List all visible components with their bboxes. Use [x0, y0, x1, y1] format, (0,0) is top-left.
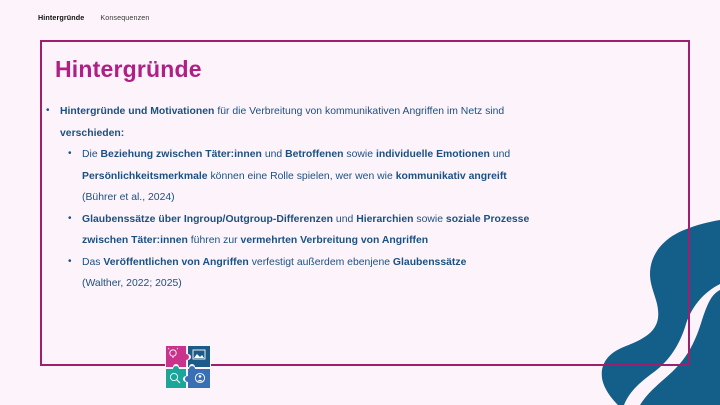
text-run: und [333, 214, 356, 225]
bullet-line: •Die Beziehung zwischen Täter:innen und … [46, 144, 671, 166]
bold-run: Glaubenssätze über Ingroup/Outgroup-Diff… [82, 214, 333, 225]
bullet-line: verschieden: [46, 123, 671, 145]
text-run: und [490, 149, 510, 160]
bullet-text: Persönlichkeitsmerkmale können eine Roll… [82, 166, 671, 188]
bullet-list: •Hintergründe und Motivationen für die V… [46, 101, 671, 295]
text-run: verfestigt außerdem ebenjene [249, 257, 393, 268]
text-run: können eine Rolle spielen, wer wen wie [208, 171, 396, 182]
text-run: sowie [344, 149, 376, 160]
bold-run: Hierarchien [356, 214, 413, 225]
bold-run: soziale Prozesse [446, 214, 529, 225]
text-run: Das [82, 257, 103, 268]
text-run: und [262, 149, 285, 160]
bullet-line: (Bührer et al., 2024) [46, 187, 671, 209]
bold-run: individuelle Emotionen [376, 149, 490, 160]
bold-run: Veröffentlichen von Angriffen [103, 257, 248, 268]
bullet-text: Das Veröffentlichen von Angriffen verfes… [82, 252, 671, 274]
bullet-line: •Hintergründe und Motivationen für die V… [46, 101, 671, 123]
topnav-item-hintergruende[interactable]: Hintergründe [38, 13, 84, 22]
bold-run: Glaubenssätze [393, 257, 466, 268]
bold-run: kommunikativ angreift [396, 171, 507, 182]
bullet-marker: • [68, 209, 82, 229]
topnav-item-konsequenzen[interactable]: Konsequenzen [100, 13, 149, 22]
bullet-line: •Glaubenssätze über Ingroup/Outgroup-Dif… [46, 209, 671, 231]
bullet-marker: • [68, 252, 82, 272]
text-run: (Walther, 2022; 2025) [82, 278, 182, 289]
bold-run: Beziehung zwischen Täter:innen [101, 149, 262, 160]
bullet-text: Hintergründe und Motivationen für die Ve… [60, 101, 671, 123]
bullet-text: verschieden: [60, 123, 671, 145]
bullet-line: •Das Veröffentlichen von Angriffen verfe… [46, 252, 671, 274]
bold-run: Persönlichkeitsmerkmale [82, 171, 208, 182]
page-title: Hintergründe [55, 56, 202, 83]
text-run: sowie [413, 214, 445, 225]
bullet-line: (Walther, 2022; 2025) [46, 273, 671, 295]
bullet-text: Die Beziehung zwischen Täter:innen und B… [82, 144, 671, 166]
text-run: (Bührer et al., 2024) [82, 192, 175, 203]
bullet-marker: • [68, 144, 82, 164]
bold-run: vermehrten Verbreitung von Angriffen [241, 235, 429, 246]
bold-run: Hintergründe und Motivationen [60, 106, 214, 117]
text-run: führen zur [188, 235, 241, 246]
text-run: Die [82, 149, 101, 160]
bullet-line: Persönlichkeitsmerkmale können eine Roll… [46, 166, 671, 188]
bold-run: Betroffenen [285, 149, 343, 160]
breadcrumb: Hintergründe Konsequenzen [38, 13, 150, 22]
text-run: für die Verbreitung von kommunikativen A… [214, 106, 504, 117]
puzzle-logo [165, 345, 211, 389]
bullet-text: Glaubenssätze über Ingroup/Outgroup-Diff… [82, 209, 671, 231]
bullet-marker: • [46, 101, 60, 121]
bullet-text: (Walther, 2022; 2025) [82, 273, 671, 295]
bullet-line: zwischen Täter:innen führen zur vermehrt… [46, 230, 671, 252]
bold-run: zwischen Täter:innen [82, 235, 188, 246]
bullet-text: zwischen Täter:innen führen zur vermehrt… [82, 230, 671, 252]
bold-run: verschieden: [60, 128, 124, 139]
bullet-text: (Bührer et al., 2024) [82, 187, 671, 209]
